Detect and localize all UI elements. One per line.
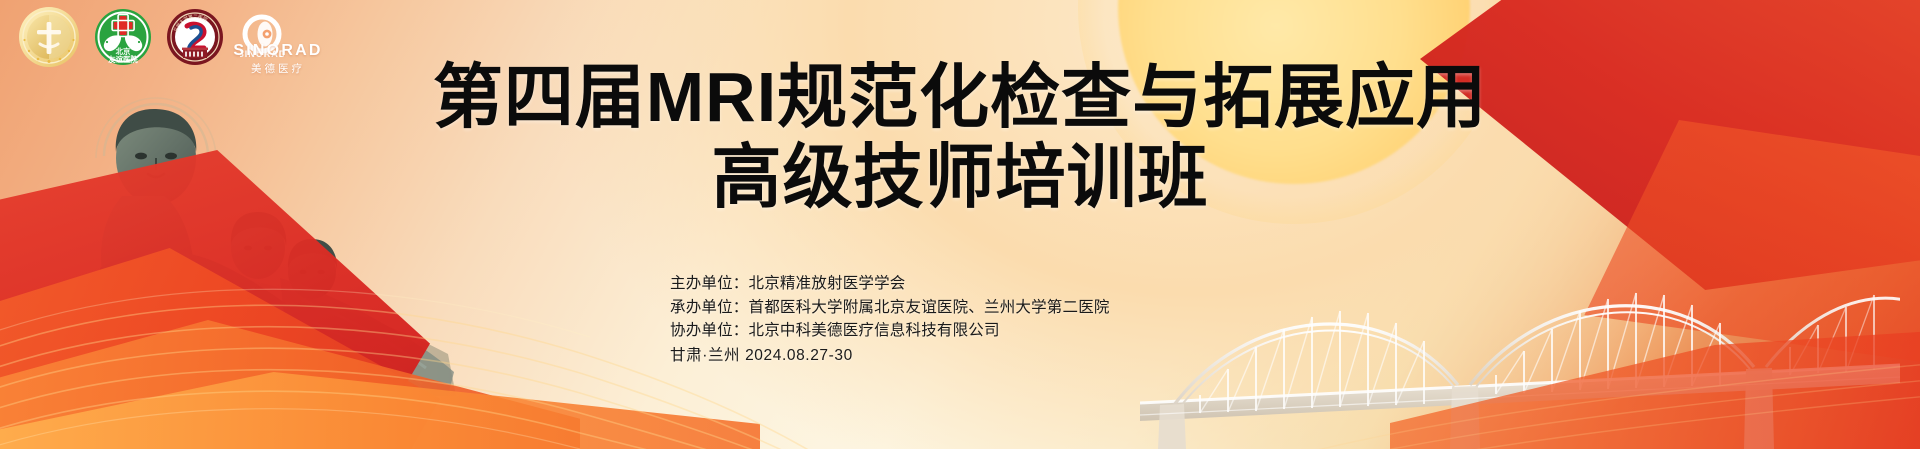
conference-banner: 北京 友谊医院 兰州大学第二医院 xyxy=(0,0,1920,449)
svg-text:友谊医院: 友谊医院 xyxy=(107,55,138,64)
sinorad-wordmark: SINORAD 美德医疗 xyxy=(222,42,334,76)
lanzhou-university-second-hospital-logo: 兰州大学第二医院 xyxy=(166,8,224,66)
location-date-line: 甘肃·兰州 2024.08.27-30 xyxy=(670,344,1110,368)
organizer-info-block: 主办单位：北京精准放射医学学会 承办单位：首都医科大学附属北京友谊医院、兰州大学… xyxy=(670,272,1110,367)
sinorad-brand-text-cn: 美德医疗 xyxy=(222,61,334,76)
organizer-line-host: 主办单位：北京精准放射医学学会 xyxy=(670,272,1110,296)
organizer-line-supporter: 协办单位：北京中科美德医疗信息科技有限公司 xyxy=(670,319,1110,343)
beijing-friendship-hospital-logo: 北京 友谊医院 xyxy=(94,8,152,66)
organizer-line-coorganizer: 承办单位：首都医科大学附属北京友谊医院、兰州大学第二医院 xyxy=(670,296,1110,320)
beijing-precision-radiology-society-logo xyxy=(18,6,80,68)
sinorad-brand-text: SINORAD xyxy=(222,42,334,60)
right-ribbon-lines xyxy=(1260,269,1920,449)
